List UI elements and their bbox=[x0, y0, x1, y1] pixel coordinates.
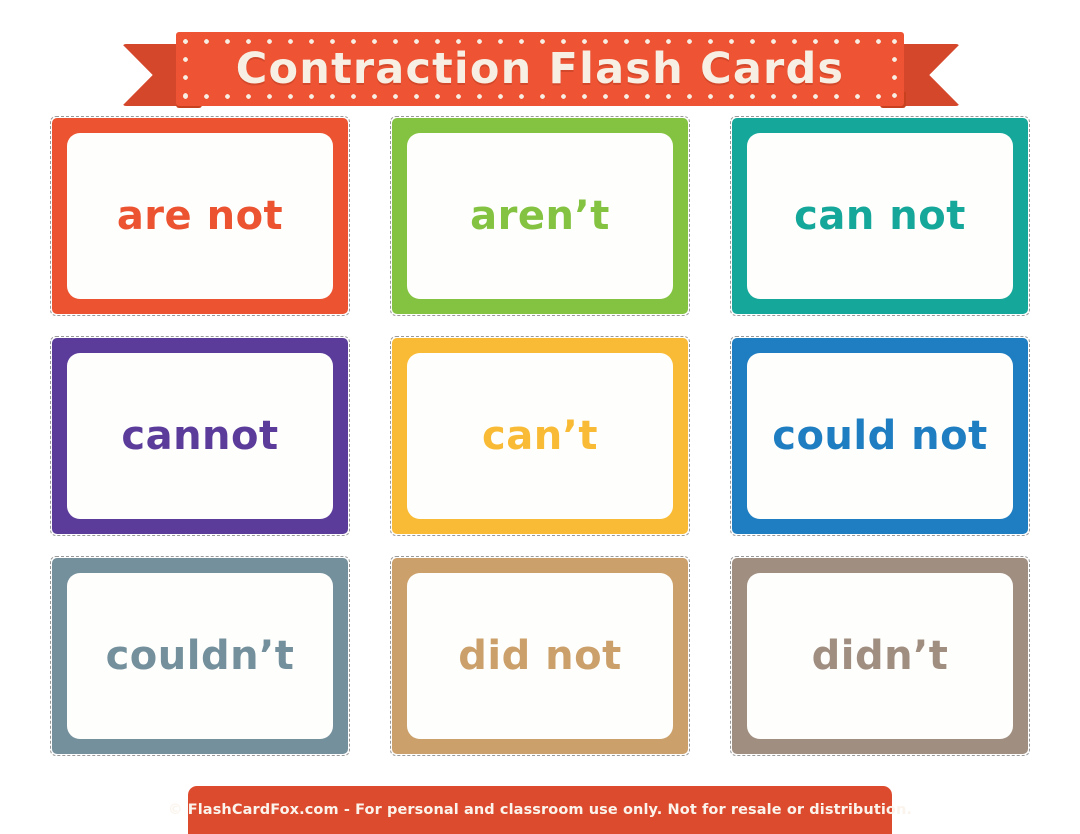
flash-card-face: didn’t bbox=[747, 573, 1013, 739]
flash-card-face: aren’t bbox=[407, 133, 673, 299]
flash-card-term: could not bbox=[772, 416, 988, 456]
flash-card-term: cannot bbox=[121, 416, 278, 456]
flash-card-face: cannot bbox=[67, 353, 333, 519]
flash-card[interactable]: are not bbox=[52, 118, 348, 314]
flash-card[interactable]: can not bbox=[732, 118, 1028, 314]
flash-card[interactable]: can’t bbox=[392, 338, 688, 534]
page-title: Contraction Flash Cards bbox=[236, 44, 844, 94]
flash-card-term: couldn’t bbox=[106, 636, 295, 676]
flash-card-face: can’t bbox=[407, 353, 673, 519]
flash-card-term: can not bbox=[794, 196, 966, 236]
flash-card-grid: are not aren’t can not cannot can’t coul… bbox=[52, 118, 1028, 754]
flash-card-face: could not bbox=[747, 353, 1013, 519]
flash-card[interactable]: couldn’t bbox=[52, 558, 348, 754]
flash-card-term: can’t bbox=[482, 416, 598, 456]
flash-card-face: are not bbox=[67, 133, 333, 299]
flash-card[interactable]: aren’t bbox=[392, 118, 688, 314]
banner-region: Contraction Flash Cards bbox=[0, 14, 1080, 110]
flash-card-face: couldn’t bbox=[67, 573, 333, 739]
flash-card-face: did not bbox=[407, 573, 673, 739]
copyright-notice: © FlashCardFox.com - For personal and cl… bbox=[168, 802, 912, 818]
flash-card-term: didn’t bbox=[812, 636, 949, 676]
flash-card-face: can not bbox=[747, 133, 1013, 299]
flash-card[interactable]: did not bbox=[392, 558, 688, 754]
flash-card[interactable]: cannot bbox=[52, 338, 348, 534]
flash-card[interactable]: didn’t bbox=[732, 558, 1028, 754]
flash-card-term: aren’t bbox=[470, 196, 610, 236]
title-banner: Contraction Flash Cards bbox=[176, 32, 904, 106]
footer-banner: © FlashCardFox.com - For personal and cl… bbox=[188, 786, 892, 834]
flash-card-term: did not bbox=[458, 636, 621, 676]
flash-card-term: are not bbox=[117, 196, 283, 236]
flash-card[interactable]: could not bbox=[732, 338, 1028, 534]
